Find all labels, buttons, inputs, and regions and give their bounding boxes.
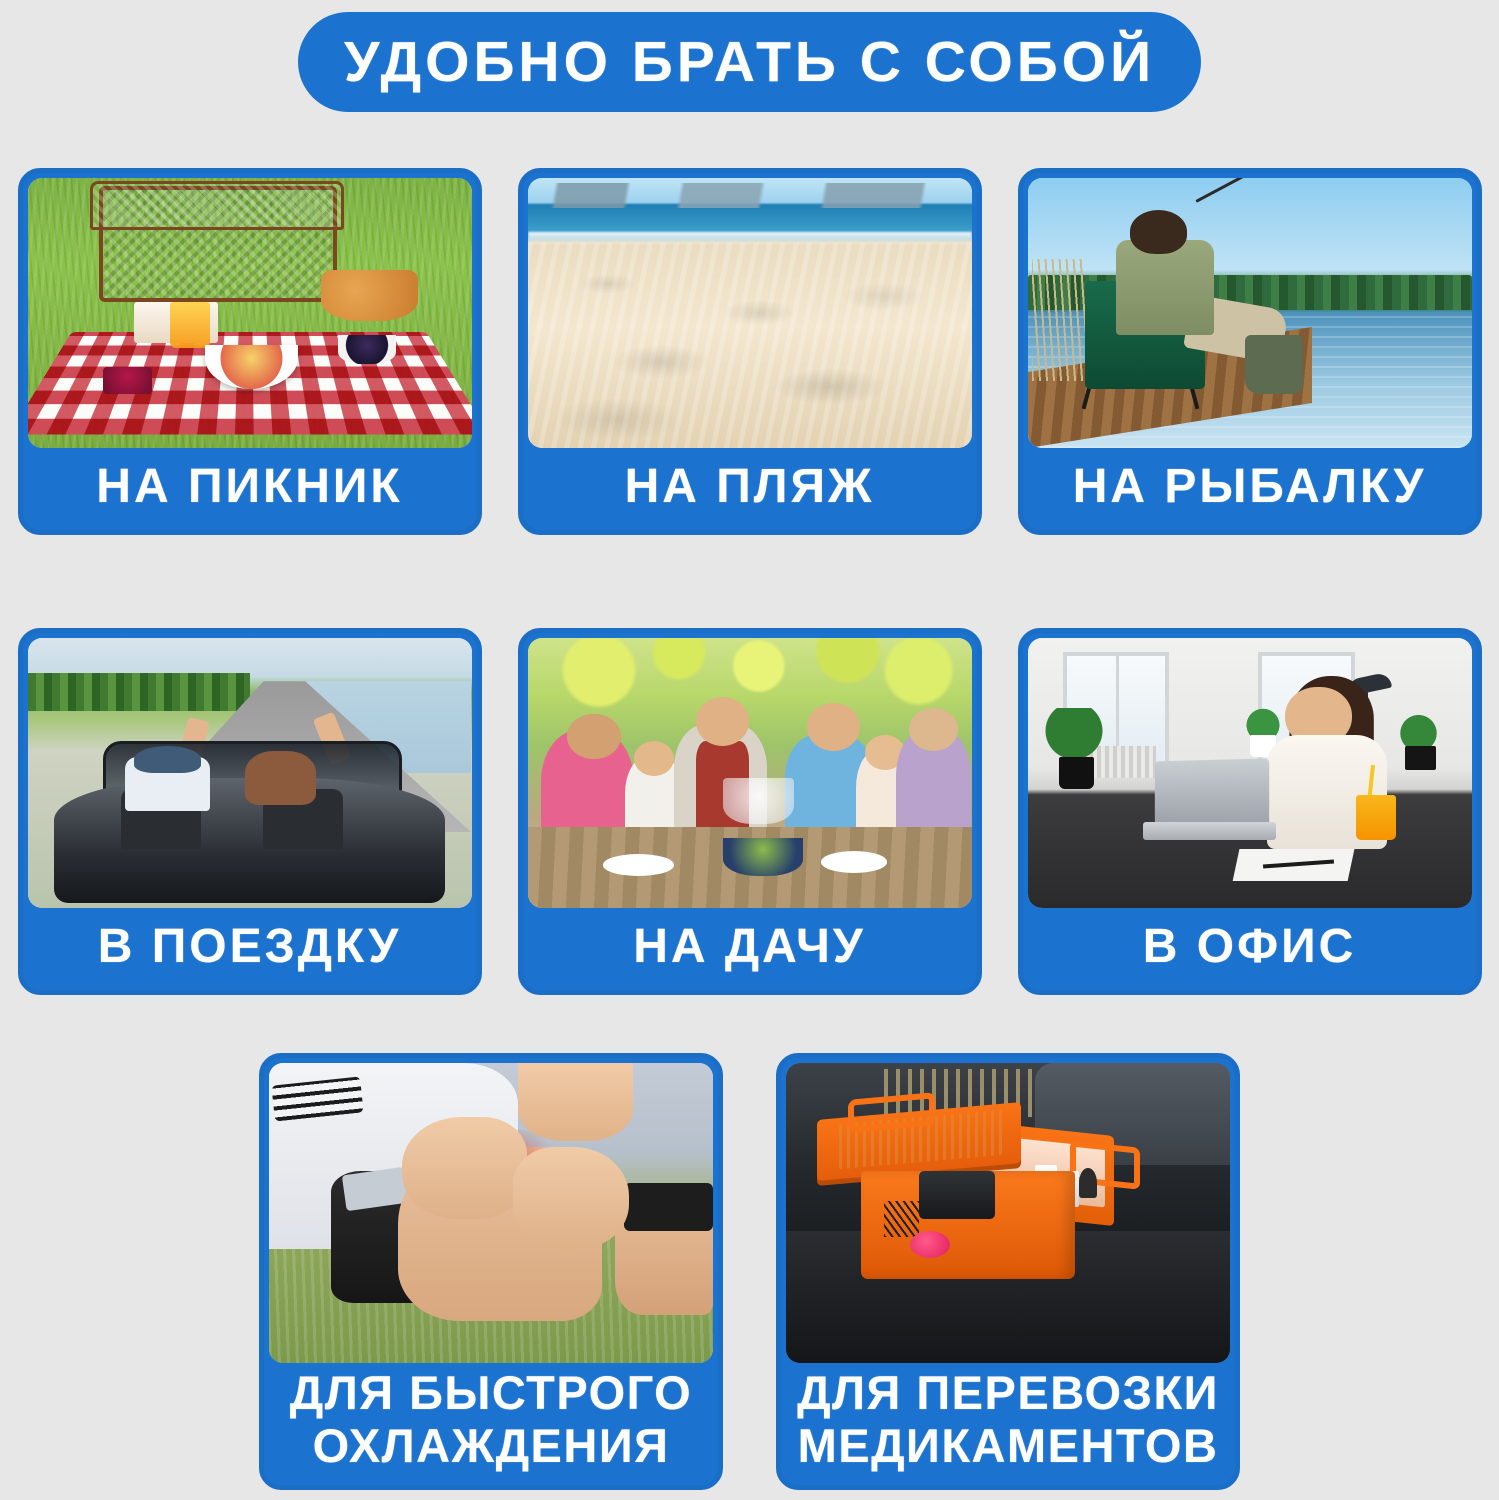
card-label-text-line2: МЕДИКАМЕНТОВ xyxy=(797,1422,1219,1469)
card-label-text: НА РЫБАЛКУ xyxy=(1073,463,1427,511)
use-case-card-fast-cooling[interactable]: ДЛЯ БЫСТРОГО ОХЛАЖДЕНИЯ xyxy=(259,1053,723,1490)
card-label-beach: НА ПЛЯЖ xyxy=(528,448,972,530)
grid-row-3: ДЛЯ БЫСТРОГО ОХЛАЖДЕНИЯ xyxy=(0,1053,1499,1490)
card-label-office: В ОФИС xyxy=(1028,908,1472,990)
use-cases-grid: НА ПИКНИК НА ПЛЯЖ xyxy=(0,130,1499,1490)
header-pill: УДОБНО БРАТЬ С СОБОЙ xyxy=(298,12,1201,112)
grid-row-2: В ПОЕЗДКУ xyxy=(0,628,1499,995)
use-case-card-picnic[interactable]: НА ПИКНИК xyxy=(18,168,482,535)
orange-medical-box-in-car-photo xyxy=(786,1063,1230,1363)
fisherman-on-dock-photo xyxy=(1028,178,1472,448)
card-label-text: НА ДАЧУ xyxy=(633,923,865,971)
card-label-dacha: НА ДАЧУ xyxy=(528,908,972,990)
card-label-text: В ОФИС xyxy=(1143,923,1356,971)
card-label-picnic: НА ПИКНИК xyxy=(28,448,472,530)
use-case-card-office[interactable]: В ОФИС xyxy=(1018,628,1482,995)
convertible-road-trip-photo xyxy=(28,638,472,908)
picnic-basket-on-grass-photo xyxy=(28,178,472,448)
use-case-card-beach[interactable]: НА ПЛЯЖ xyxy=(518,168,982,535)
card-label-text-line1: ДЛЯ ПЕРЕВОЗКИ xyxy=(797,1369,1219,1416)
card-label-fast-cooling: ДЛЯ БЫСТРОГО ОХЛАЖДЕНИЯ xyxy=(269,1363,713,1485)
card-label-text-line2: ОХЛАЖДЕНИЯ xyxy=(290,1422,692,1469)
use-case-card-road-trip[interactable]: В ПОЕЗДКУ xyxy=(18,628,482,995)
use-case-card-medicine-transport[interactable]: ДЛЯ ПЕРЕВОЗКИ МЕДИКАМЕНТОВ xyxy=(776,1053,1240,1490)
use-case-card-fishing[interactable]: НА РЫБАЛКУ xyxy=(1018,168,1482,535)
injured-knee-photo xyxy=(269,1063,713,1363)
card-label-medicine-transport: ДЛЯ ПЕРЕВОЗКИ МЕДИКАМЕНТОВ xyxy=(786,1363,1230,1485)
card-label-text-line1: ДЛЯ БЫСТРОГО xyxy=(290,1369,692,1416)
page-title: УДОБНО БРАТЬ С СОБОЙ xyxy=(344,34,1155,91)
card-label-text: НА ПИКНИК xyxy=(96,463,402,511)
card-label-fishing: НА РЫБАЛКУ xyxy=(1028,448,1472,530)
card-label-text: В ПОЕЗДКУ xyxy=(98,923,401,971)
sandy-beach-photo xyxy=(528,178,972,448)
woman-eating-at-office-desk-photo xyxy=(1028,638,1472,908)
header-banner: УДОБНО БРАТЬ С СОБОЙ xyxy=(0,0,1499,130)
card-label-road-trip: В ПОЕЗДКУ xyxy=(28,908,472,990)
family-outdoor-dinner-photo xyxy=(528,638,972,908)
use-case-card-dacha[interactable]: НА ДАЧУ xyxy=(518,628,982,995)
card-label-text: НА ПЛЯЖ xyxy=(625,463,875,511)
grid-row-1: НА ПИКНИК НА ПЛЯЖ xyxy=(0,168,1499,535)
